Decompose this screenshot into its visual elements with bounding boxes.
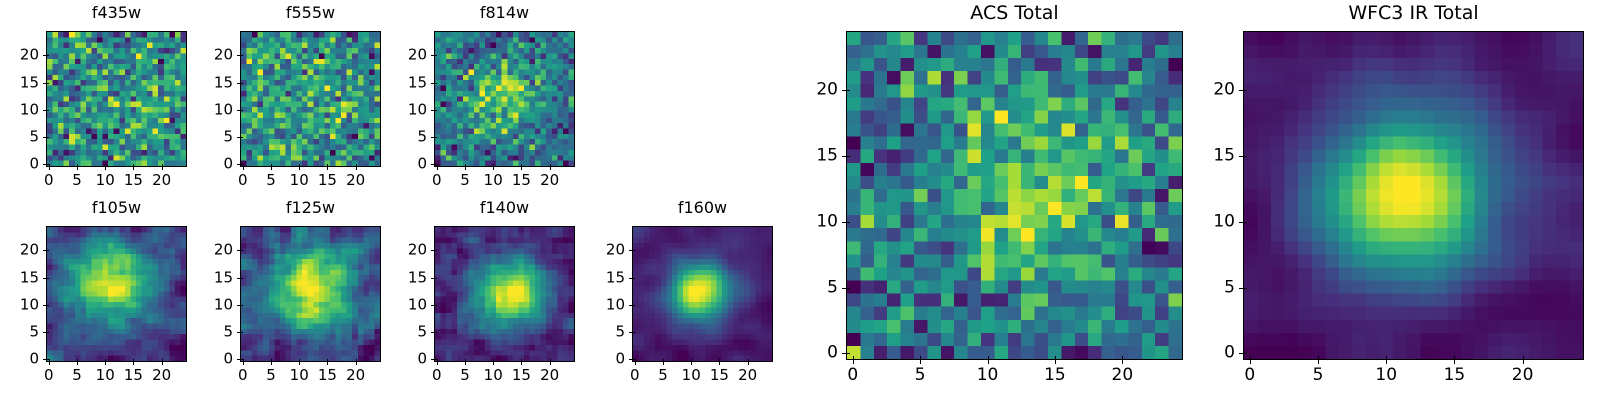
x-ticklabel-f814w-2: 10: [484, 173, 503, 188]
x-ticklabel-f140w-2: 10: [484, 368, 503, 383]
x-tick-wfc3-ir-total-3: [1454, 360, 1455, 364]
heatmap-f140w[interactable]: [434, 226, 575, 362]
heatmap-f160w[interactable]: [632, 226, 773, 362]
x-ticklabel-acs-total-2: 10: [977, 367, 999, 384]
x-tick-f435w-1: [77, 167, 78, 170]
x-ticklabel-wfc3-ir-total-1: 5: [1313, 367, 1324, 384]
x-tick-f140w-3: [521, 362, 522, 365]
x-ticklabel-f105w-0: 0: [44, 368, 54, 383]
x-ticklabel-f814w-1: 5: [460, 173, 470, 188]
x-tick-f105w-4: [162, 362, 163, 365]
x-tick-f814w-4: [550, 167, 551, 170]
x-tick-f555w-1: [271, 167, 272, 170]
heatmap-f814w[interactable]: [434, 31, 575, 167]
panel-title-f125w: f125w: [240, 200, 381, 216]
x-ticklabel-f555w-0: 0: [238, 173, 248, 188]
x-ticklabel-f435w-2: 10: [96, 173, 115, 188]
y-ticklabel-f435w-4: 20: [0, 48, 39, 63]
x-ticklabel-f125w-2: 10: [290, 368, 309, 383]
x-ticklabel-wfc3-ir-total-3: 15: [1444, 367, 1466, 384]
x-ticklabel-f555w-3: 15: [318, 173, 337, 188]
x-ticklabel-f435w-0: 0: [44, 173, 54, 188]
x-tick-f105w-3: [133, 362, 134, 365]
x-ticklabel-f160w-2: 10: [682, 368, 701, 383]
heatmap-image-f555w: [241, 32, 380, 166]
x-tick-f125w-0: [243, 362, 244, 365]
panel-title-f160w: f160w: [632, 200, 773, 216]
x-tick-wfc3-ir-total-2: [1386, 360, 1387, 364]
x-ticklabel-f140w-3: 15: [512, 368, 531, 383]
heatmap-image-acs-total: [847, 32, 1182, 359]
heatmap-image-f105w: [47, 227, 186, 361]
x-tick-f125w-3: [327, 362, 328, 365]
x-ticklabel-f160w-0: 0: [630, 368, 640, 383]
x-tick-f160w-4: [748, 362, 749, 365]
y-ticklabel-f435w-1: 5: [0, 130, 39, 145]
x-tick-f125w-2: [299, 362, 300, 365]
x-ticklabel-f125w-0: 0: [238, 368, 248, 383]
x-tick-f435w-2: [105, 167, 106, 170]
x-ticklabel-f105w-2: 10: [96, 368, 115, 383]
x-tick-f555w-4: [356, 167, 357, 170]
x-ticklabel-acs-total-3: 15: [1044, 367, 1066, 384]
x-ticklabel-f105w-1: 5: [72, 368, 82, 383]
heatmap-f435w[interactable]: [46, 31, 187, 167]
x-ticklabel-f105w-4: 20: [152, 368, 171, 383]
x-ticklabel-acs-total-4: 20: [1112, 367, 1134, 384]
x-ticklabel-acs-total-0: 0: [847, 367, 858, 384]
y-ticklabel-f105w-1: 5: [0, 325, 39, 340]
panel-title-acs-total: ACS Total: [846, 4, 1183, 23]
x-tick-f105w-1: [77, 362, 78, 365]
x-ticklabel-f814w-0: 0: [432, 173, 442, 188]
x-ticklabel-f435w-3: 15: [124, 173, 143, 188]
x-tick-f555w-3: [327, 167, 328, 170]
x-ticklabel-acs-total-1: 5: [915, 367, 926, 384]
x-tick-f140w-4: [550, 362, 551, 365]
x-tick-f160w-1: [663, 362, 664, 365]
heatmap-image-f125w: [241, 227, 380, 361]
x-tick-acs-total-4: [1122, 360, 1123, 364]
heatmap-acs-total[interactable]: [846, 31, 1183, 360]
x-tick-acs-total-1: [920, 360, 921, 364]
x-ticklabel-f140w-1: 5: [460, 368, 470, 383]
y-ticklabel-f435w-2: 10: [0, 102, 39, 117]
x-tick-f140w-0: [437, 362, 438, 365]
x-tick-f140w-1: [465, 362, 466, 365]
heatmap-image-f160w: [633, 227, 772, 361]
x-tick-f555w-0: [243, 167, 244, 170]
x-ticklabel-f814w-4: 20: [540, 173, 559, 188]
x-tick-f814w-3: [521, 167, 522, 170]
heatmap-image-f140w: [435, 227, 574, 361]
x-ticklabel-f140w-0: 0: [432, 368, 442, 383]
x-tick-f105w-0: [49, 362, 50, 365]
x-tick-f160w-3: [719, 362, 720, 365]
y-ticklabel-f105w-2: 10: [0, 297, 39, 312]
heatmap-wfc3-ir-total[interactable]: [1243, 31, 1584, 360]
x-ticklabel-f555w-4: 20: [346, 173, 365, 188]
x-ticklabel-f140w-4: 20: [540, 368, 559, 383]
x-tick-f814w-0: [437, 167, 438, 170]
x-ticklabel-f125w-4: 20: [346, 368, 365, 383]
x-tick-wfc3-ir-total-0: [1250, 360, 1251, 364]
x-tick-f160w-0: [635, 362, 636, 365]
x-ticklabel-f160w-4: 20: [738, 368, 757, 383]
x-tick-f435w-0: [49, 167, 50, 170]
y-ticklabel-f105w-3: 15: [0, 270, 39, 285]
x-tick-wfc3-ir-total-1: [1318, 360, 1319, 364]
x-tick-f435w-4: [162, 167, 163, 170]
x-tick-f160w-2: [691, 362, 692, 365]
y-ticklabel-f435w-0: 0: [0, 157, 39, 172]
x-tick-f140w-2: [493, 362, 494, 365]
x-tick-acs-total-3: [1055, 360, 1056, 364]
heatmap-f125w[interactable]: [240, 226, 381, 362]
x-tick-f105w-2: [105, 362, 106, 365]
panel-title-wfc3-ir-total: WFC3 IR Total: [1243, 4, 1584, 23]
panel-title-f555w: f555w: [240, 5, 381, 21]
x-ticklabel-f814w-3: 15: [512, 173, 531, 188]
x-tick-f125w-1: [271, 362, 272, 365]
x-ticklabel-f555w-2: 10: [290, 173, 309, 188]
x-ticklabel-wfc3-ir-total-4: 20: [1512, 367, 1534, 384]
x-ticklabel-f125w-1: 5: [266, 368, 276, 383]
heatmap-image-wfc3-ir-total: [1244, 32, 1583, 359]
panel-title-f814w: f814w: [434, 5, 575, 21]
x-ticklabel-f160w-1: 5: [658, 368, 668, 383]
x-ticklabel-f160w-3: 15: [710, 368, 729, 383]
x-tick-f814w-1: [465, 167, 466, 170]
heatmap-image-f435w: [47, 32, 186, 166]
figure-canvas: f435w0510152005101520f555w05101520051015…: [0, 0, 1600, 400]
heatmap-f555w[interactable]: [240, 31, 381, 167]
x-tick-acs-total-0: [853, 360, 854, 364]
heatmap-f105w[interactable]: [46, 226, 187, 362]
x-ticklabel-wfc3-ir-total-0: 0: [1244, 367, 1255, 384]
panel-title-f435w: f435w: [46, 5, 187, 21]
x-tick-f125w-4: [356, 362, 357, 365]
y-ticklabel-f105w-0: 0: [0, 352, 39, 367]
panel-title-f140w: f140w: [434, 200, 575, 216]
panel-title-f105w: f105w: [46, 200, 187, 216]
x-tick-f555w-2: [299, 167, 300, 170]
x-tick-acs-total-2: [988, 360, 989, 364]
x-ticklabel-f555w-1: 5: [266, 173, 276, 188]
x-ticklabel-wfc3-ir-total-2: 10: [1375, 367, 1397, 384]
heatmap-image-f814w: [435, 32, 574, 166]
x-tick-f435w-3: [133, 167, 134, 170]
x-tick-f814w-2: [493, 167, 494, 170]
y-ticklabel-f105w-4: 20: [0, 243, 39, 258]
x-ticklabel-f125w-3: 15: [318, 368, 337, 383]
y-ticklabel-f435w-3: 15: [0, 75, 39, 90]
x-ticklabel-f105w-3: 15: [124, 368, 143, 383]
x-ticklabel-f435w-1: 5: [72, 173, 82, 188]
x-tick-wfc3-ir-total-4: [1523, 360, 1524, 364]
x-ticklabel-f435w-4: 20: [152, 173, 171, 188]
